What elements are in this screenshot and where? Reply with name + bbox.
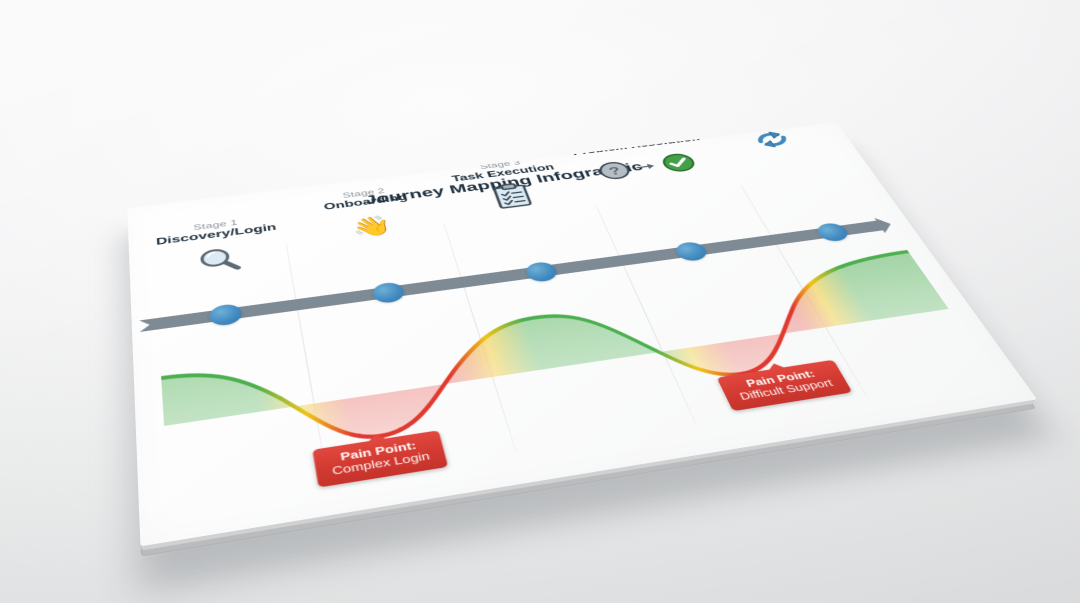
column-divider (595, 204, 697, 424)
pain-point-value: Complex Login (331, 450, 431, 478)
pain-point-callout-1[interactable]: Pain Point: Complex Login (313, 430, 448, 487)
column-divider (444, 224, 518, 454)
pain-point-label: Pain Point: (732, 367, 829, 392)
pain-point-label: Pain Point: (329, 438, 428, 465)
question-mark-circle-icon: ? (594, 159, 635, 181)
stage-marker-1[interactable] (209, 302, 243, 326)
pain-point-value: Difficult Support (738, 377, 835, 402)
infographic-scene: Journey Mapping Infographic Stage 1 Di (0, 0, 1080, 603)
timeline-tail-notch (139, 318, 159, 332)
column-divider (286, 244, 329, 484)
pain-point-callout-2[interactable]: Pain Point: Difficult Support (716, 360, 852, 411)
arrow-right-icon (635, 161, 659, 172)
infographic-card-3d: Journey Mapping Infographic Stage 1 Di (127, 122, 1037, 546)
